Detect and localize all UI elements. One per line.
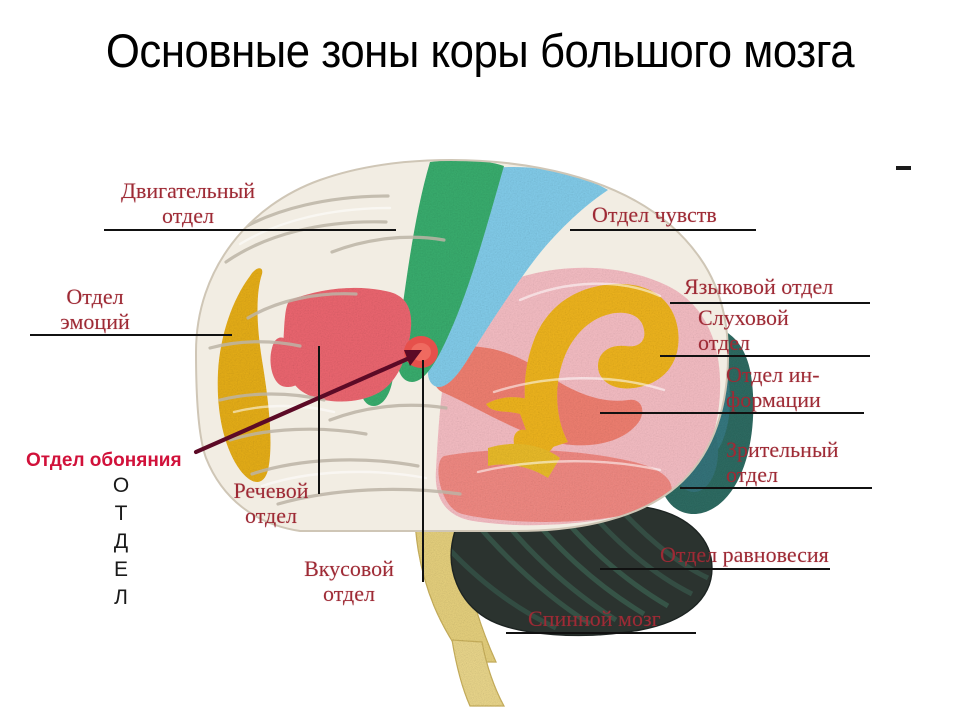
leader-language [670, 302, 870, 304]
vertical-word-otdel: О Т Д Е Л [108, 472, 134, 612]
label-auditory: Слуховой отдел [698, 305, 918, 355]
label-senses: Отдел чувств [592, 202, 832, 227]
vertical-letter-0: О [108, 472, 134, 500]
label-olfactory-overlay: Отдел обоняния [26, 450, 182, 472]
corner-tick-mark [896, 166, 911, 170]
label-visual: Зрительный отдел [726, 437, 946, 487]
label-taste: Вкусовой отдел [274, 556, 424, 606]
label-spinal-cord: Спинной мозг [528, 606, 788, 631]
label-emotions: Отдел эмоций [20, 284, 170, 334]
leader-information [600, 412, 864, 414]
label-information: Отдел ин- формации [726, 362, 946, 412]
vertical-letter-4: Л [108, 584, 134, 612]
leader-spinal [506, 632, 696, 634]
label-equilibrium: Отдел равновесия [660, 542, 950, 567]
diagram-stage: Двигательный отдел Отдел эмоций Речевой … [0, 0, 960, 720]
vertical-letter-2: Д [108, 528, 134, 556]
leader-speech [318, 346, 320, 494]
vertical-letter-1: Т [108, 500, 134, 528]
leader-senses [570, 229, 756, 231]
label-language: Языковой отдел [684, 274, 944, 299]
label-motor: Двигательный отдел [78, 178, 298, 228]
brain-illustration [0, 0, 960, 720]
label-speech: Речевой отдел [196, 478, 346, 528]
leader-motor [104, 229, 396, 231]
leader-equilibrium [600, 568, 830, 570]
leader-emotions [30, 334, 232, 336]
leader-auditory [660, 355, 870, 357]
leader-visual [680, 487, 872, 489]
leader-taste [422, 360, 424, 582]
brain-diagram-page: Основные зоны коры большого мозга [0, 0, 960, 720]
vertical-letter-3: Е [108, 556, 134, 584]
